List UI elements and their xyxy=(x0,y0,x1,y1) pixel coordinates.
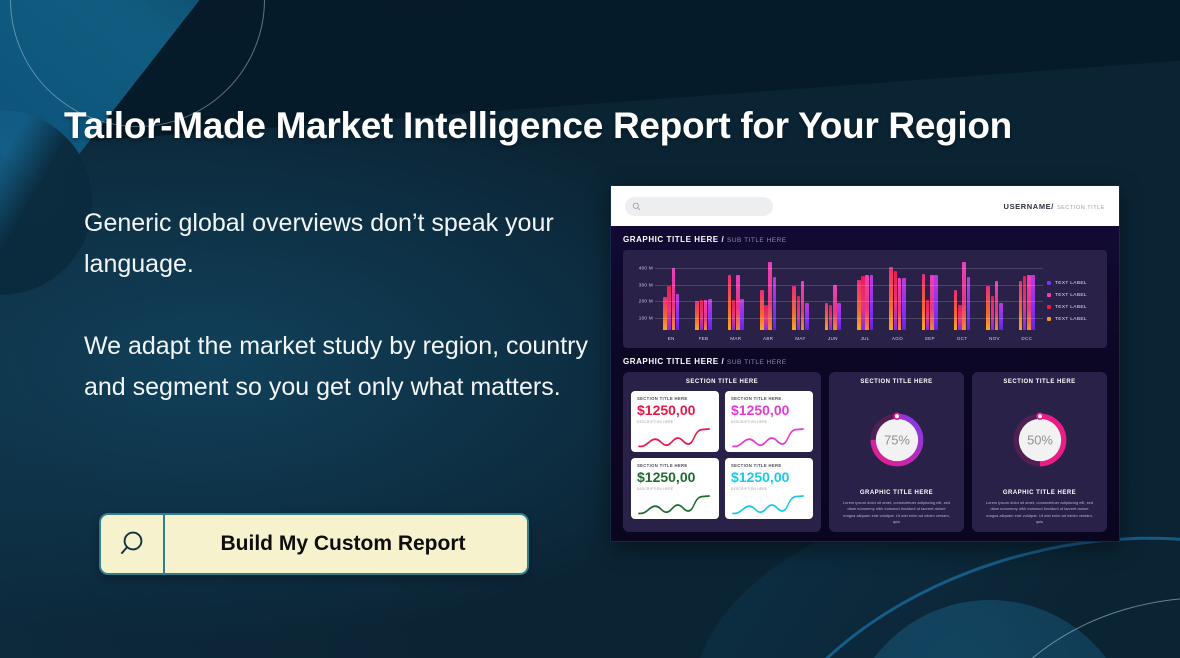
x-tick-label: JUN xyxy=(818,336,848,341)
legend-item[interactable]: TEXT LABEL xyxy=(1047,281,1101,286)
bar xyxy=(805,303,809,330)
metric-tile-description: DESCRIPTION HERE xyxy=(637,487,713,491)
x-tick-label: OCT xyxy=(947,336,977,341)
bar xyxy=(792,286,796,330)
x-tick-label: DCC xyxy=(1012,336,1042,341)
legend-label: TEXT LABEL xyxy=(1055,281,1087,286)
bar-group xyxy=(889,260,905,330)
legend-label: TEXT LABEL xyxy=(1055,293,1087,298)
chart-section-title-main: GRAPHIC TITLE HERE / xyxy=(623,235,724,244)
dashboard-mockup: USERNAME/ SECTION TITLE GRAPHIC TITLE HE… xyxy=(610,185,1120,542)
donut-chart-75: 75% xyxy=(837,391,956,488)
chart-gridline xyxy=(655,301,1043,302)
lower-section-title: GRAPHIC TITLE HERE / SUB TITLE HERE xyxy=(623,357,1107,366)
bar-chart-bars xyxy=(655,260,1043,330)
metric-tile-description: DESCRIPTION HERE xyxy=(731,420,807,424)
bar xyxy=(902,278,906,330)
metrics-card: SECTION TITLE HERE SECTION TITLE HERE$12… xyxy=(623,372,821,532)
bar xyxy=(995,281,999,330)
x-tick-label: MAR xyxy=(721,336,751,341)
page-title: Tailor-Made Market Intelligence Report f… xyxy=(64,105,1084,147)
bar xyxy=(672,268,676,331)
cta-label: Build My Custom Report xyxy=(165,532,527,556)
bar xyxy=(857,280,861,330)
username-label: USERNAME/ xyxy=(1004,202,1054,211)
donut-card-1-header: SECTION TITLE HERE xyxy=(837,379,956,385)
bar xyxy=(837,303,841,330)
build-custom-report-button[interactable]: Build My Custom Report xyxy=(99,513,529,575)
metric-tile-value: $1250,00 xyxy=(731,402,807,419)
bar xyxy=(999,303,1003,330)
lower-section-subtitle: SUB TITLE HERE xyxy=(727,359,787,366)
bar xyxy=(986,286,990,330)
metric-tile-title: SECTION TITLE HERE xyxy=(731,396,807,401)
x-tick-label: FEB xyxy=(688,336,718,341)
y-tick-label: 400 M xyxy=(639,266,653,271)
bar xyxy=(926,300,930,330)
sparkline-chart xyxy=(637,426,713,450)
legend-label: TEXT LABEL xyxy=(1055,317,1087,322)
body-paragraph-2: We adapt the market study by region, cou… xyxy=(84,326,589,408)
x-tick-label: MAY xyxy=(785,336,815,341)
legend-label: TEXT LABEL xyxy=(1055,305,1087,310)
bar-group xyxy=(695,260,711,330)
bar xyxy=(930,275,934,330)
legend-item[interactable]: TEXT LABEL xyxy=(1047,293,1101,298)
legend-swatch xyxy=(1047,305,1051,309)
bar-group xyxy=(986,260,1002,330)
y-tick-label: 100 M xyxy=(639,315,653,320)
bar xyxy=(760,290,764,330)
bar-group xyxy=(760,260,776,330)
search-icon xyxy=(101,515,165,573)
search-input[interactable] xyxy=(625,197,773,216)
bar xyxy=(934,275,938,330)
y-tick-label: 300 M xyxy=(639,282,653,287)
legend-item[interactable]: TEXT LABEL xyxy=(1047,317,1101,322)
metric-tile-title: SECTION TITLE HERE xyxy=(637,396,713,401)
metric-tile[interactable]: SECTION TITLE HERE$1250,00DESCRIPTION HE… xyxy=(725,391,813,452)
metric-tile[interactable]: SECTION TITLE HERE$1250,00DESCRIPTION HE… xyxy=(631,458,719,519)
metric-tile-value: $1250,00 xyxy=(637,469,713,486)
search-icon xyxy=(632,202,641,211)
bar-chart-plot: ENFEBMARABRMAYJUNJULAGOSEPOCTNOVDCC xyxy=(655,258,1043,344)
metrics-card-header: SECTION TITLE HERE xyxy=(631,379,813,385)
lower-section-title-main: GRAPHIC TITLE HERE / xyxy=(623,357,724,366)
chart-gridline xyxy=(655,268,1043,269)
donut-svg: 75% xyxy=(866,409,928,471)
donut-chart-50: 50% xyxy=(980,391,1099,488)
chart-section-title: GRAPHIC TITLE HERE / SUB TITLE HERE xyxy=(623,235,1107,244)
donut-svg: 50% xyxy=(1009,409,1071,471)
dashboard-body: GRAPHIC TITLE HERE / SUB TITLE HERE 100 … xyxy=(611,226,1119,542)
bar xyxy=(898,278,902,330)
legend-swatch xyxy=(1047,281,1051,285)
y-tick-label: 200 M xyxy=(639,299,653,304)
chart-y-axis: 100 M200 M300 M400 M xyxy=(629,258,655,344)
bar xyxy=(833,285,837,330)
bar xyxy=(825,303,829,330)
bar xyxy=(1031,275,1035,330)
dashboard-cards-row: SECTION TITLE HERE SECTION TITLE HERE$12… xyxy=(623,372,1107,532)
metric-tile[interactable]: SECTION TITLE HERE$1250,00DESCRIPTION HE… xyxy=(631,391,719,452)
svg-text:75%: 75% xyxy=(884,432,910,447)
body-paragraph-1: Generic global overviews don’t speak you… xyxy=(84,203,589,285)
metric-tile-description: DESCRIPTION HERE xyxy=(731,487,807,491)
bar-group xyxy=(663,260,679,330)
donut-card-2: SECTION TITLE HERE 50% GRAPHIC TITLE HER… xyxy=(972,372,1107,532)
metric-tile-description: DESCRIPTION HERE xyxy=(637,420,713,424)
bar xyxy=(870,275,874,330)
bar-group xyxy=(825,260,841,330)
donut-card-1-caption: GRAPHIC TITLE HERE xyxy=(837,490,956,496)
bar xyxy=(736,275,740,330)
x-tick-label: NOV xyxy=(979,336,1009,341)
section-title-label: SECTION TITLE xyxy=(1057,205,1105,211)
chart-section-subtitle: SUB TITLE HERE xyxy=(727,237,787,244)
donut-card-1-description: Lorem ipsum dolor sit amet, consectetuer… xyxy=(837,500,956,525)
metric-tile[interactable]: SECTION TITLE HERE$1250,00DESCRIPTION HE… xyxy=(725,458,813,519)
bar xyxy=(695,301,699,330)
chart-gridline xyxy=(655,285,1043,286)
bar xyxy=(1019,281,1023,330)
body-copy: Generic global overviews don’t speak you… xyxy=(84,203,589,408)
bar xyxy=(732,300,736,330)
chart-gridline xyxy=(655,318,1043,319)
x-tick-label: SEP xyxy=(915,336,945,341)
bar xyxy=(728,275,732,330)
bar xyxy=(962,262,966,330)
metric-tile-value: $1250,00 xyxy=(731,469,807,486)
bar-group xyxy=(922,260,938,330)
bar-group xyxy=(728,260,744,330)
bar xyxy=(801,281,805,330)
x-tick-label: JUL xyxy=(850,336,880,341)
chart-x-axis: ENFEBMARABRMAYJUNJULAGOSEPOCTNOVDCC xyxy=(655,332,1043,344)
bar xyxy=(740,299,744,330)
sparkline-chart xyxy=(637,493,713,517)
username-breadcrumb: USERNAME/ SECTION TITLE xyxy=(1004,202,1105,211)
bar xyxy=(676,294,680,330)
bar xyxy=(704,300,708,330)
svg-text:50%: 50% xyxy=(1027,432,1053,447)
legend-swatch xyxy=(1047,293,1051,297)
legend-swatch xyxy=(1047,317,1051,321)
bar-chart-panel: 100 M200 M300 M400 M ENFEBMARABRMAYJUNJU… xyxy=(623,250,1107,348)
metric-tile-title: SECTION TITLE HERE xyxy=(637,463,713,468)
metric-tile-value: $1250,00 xyxy=(637,402,713,419)
metric-tiles-grid: SECTION TITLE HERE$1250,00DESCRIPTION HE… xyxy=(631,391,813,519)
bar xyxy=(667,286,671,330)
x-tick-label: EN xyxy=(656,336,686,341)
sparkline-chart xyxy=(731,426,807,450)
donut-card-1: SECTION TITLE HERE 75% GRAPHIC TITLE HER… xyxy=(829,372,964,532)
dashboard-lower-section: GRAPHIC TITLE HERE / SUB TITLE HERE SECT… xyxy=(623,357,1107,532)
metric-tile-title: SECTION TITLE HERE xyxy=(731,463,807,468)
bar-group xyxy=(1019,260,1035,330)
bar xyxy=(865,275,869,330)
donut-card-2-header: SECTION TITLE HERE xyxy=(980,379,1099,385)
bar xyxy=(708,299,712,330)
bar-group xyxy=(857,260,873,330)
bar-group xyxy=(954,260,970,330)
bar-chart-area: 100 M200 M300 M400 M ENFEBMARABRMAYJUNJU… xyxy=(629,258,1043,344)
chart-legend: TEXT LABELTEXT LABELTEXT LABELTEXT LABEL xyxy=(1043,258,1101,344)
bar xyxy=(954,290,958,330)
x-tick-label: ABR xyxy=(753,336,783,341)
bar-group xyxy=(792,260,808,330)
bar xyxy=(889,267,893,330)
donut-card-2-caption: GRAPHIC TITLE HERE xyxy=(980,490,1099,496)
bar xyxy=(1027,275,1031,330)
dashboard-topbar: USERNAME/ SECTION TITLE xyxy=(611,186,1119,226)
x-tick-label: AGO xyxy=(882,336,912,341)
donut-card-2-description: Lorem ipsum dolor sit amet, consectetuer… xyxy=(980,500,1099,525)
bar xyxy=(700,300,704,330)
legend-item[interactable]: TEXT LABEL xyxy=(1047,305,1101,310)
slide-content: Tailor-Made Market Intelligence Report f… xyxy=(0,0,1180,658)
bar xyxy=(768,262,772,330)
sparkline-chart xyxy=(731,493,807,517)
